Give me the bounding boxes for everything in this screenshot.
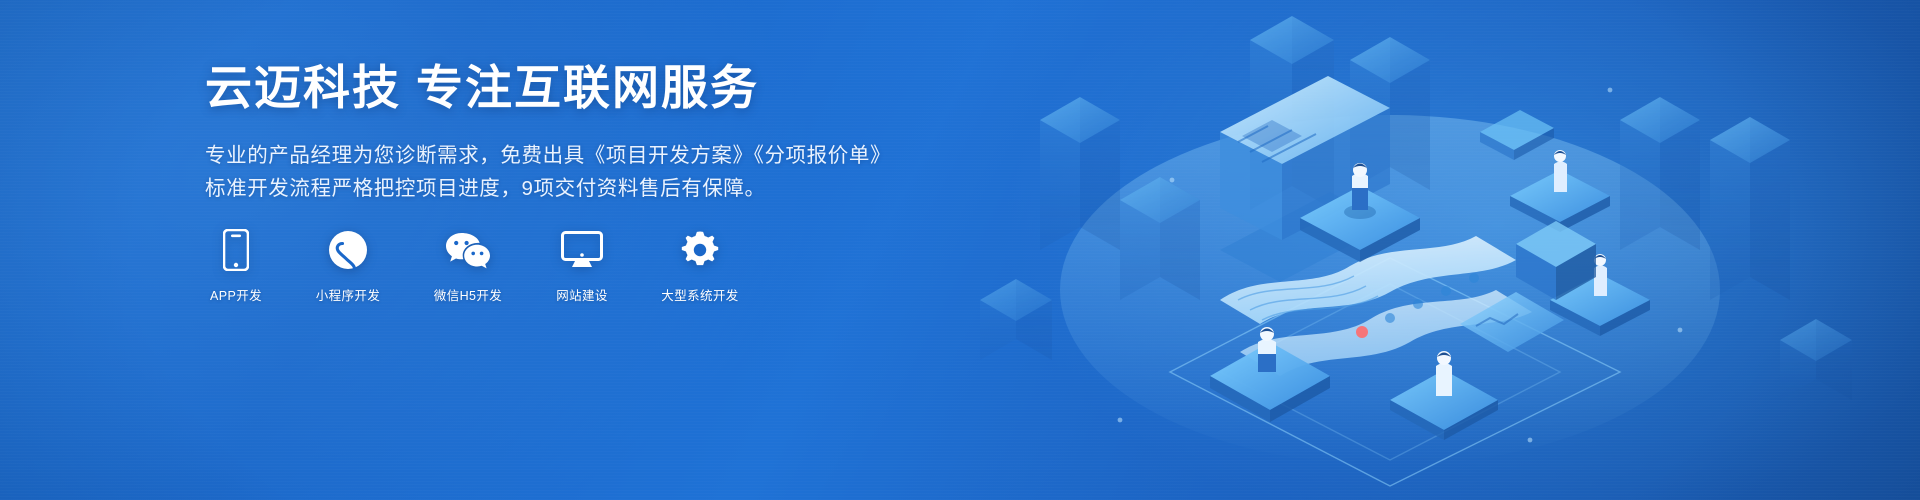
illustration-artwork [920, 0, 1920, 500]
service-list: APP开发 小程序开发 微信 [205, 228, 743, 304]
service-item-large-system[interactable]: 大型系统开发 [657, 228, 743, 304]
service-label: 网站建设 [556, 285, 608, 304]
hero-banner: 云迈科技 专注互联网服务 专业的产品经理为您诊断需求，免费出具《项目开发方案》《… [0, 0, 1920, 500]
service-label: 微信H5开发 [434, 285, 502, 304]
service-item-app[interactable]: APP开发 [205, 228, 267, 304]
service-label: 小程序开发 [316, 285, 381, 304]
subtitle-line-2: 标准开发流程严格把控项目进度，9项交付资料售后有保障。 [205, 172, 965, 205]
service-item-website[interactable]: 网站建设 [551, 228, 613, 304]
service-item-miniprogram[interactable]: 小程序开发 [311, 228, 385, 304]
service-label: 大型系统开发 [661, 285, 738, 304]
mobile-phone-icon [223, 228, 249, 272]
subtitle-line-1: 专业的产品经理为您诊断需求，免费出具《项目开发方案》《分项报价单》 [205, 139, 965, 172]
mini-program-icon [328, 228, 368, 272]
gear-icon [680, 228, 720, 272]
service-item-wechat-h5[interactable]: 微信H5开发 [429, 228, 507, 304]
subtitle-block: 专业的产品经理为您诊断需求，免费出具《项目开发方案》《分项报价单》 标准开发流程… [205, 139, 965, 205]
page-title: 云迈科技 专注互联网服务 [205, 62, 965, 115]
service-label: APP开发 [210, 285, 262, 304]
banner-copy: 云迈科技 专注互联网服务 专业的产品经理为您诊断需求，免费出具《项目开发方案》《… [205, 62, 965, 205]
monitor-icon [561, 228, 603, 272]
wechat-icon [445, 228, 491, 272]
